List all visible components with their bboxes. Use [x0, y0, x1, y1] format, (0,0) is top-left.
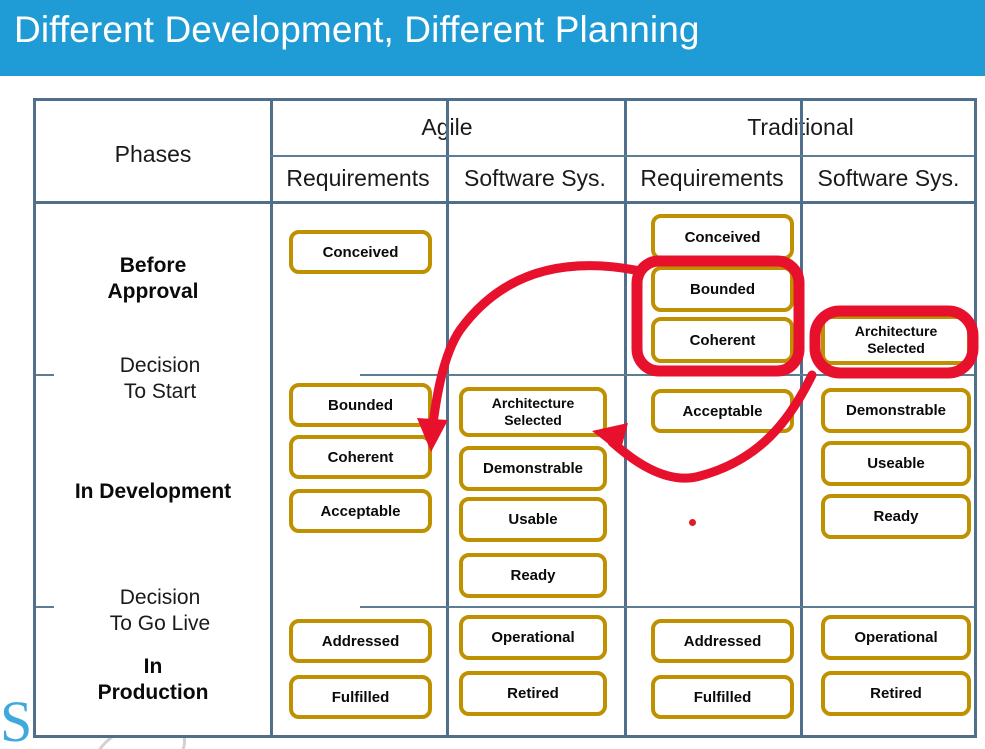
page-title: Different Development, Different Plannin…	[14, 3, 700, 57]
grid-vline-trad-req	[800, 101, 803, 735]
state-box[interactable]: Coherent	[289, 435, 432, 479]
row-label-in-production-line1: In	[36, 654, 270, 680]
state-box[interactable]: Usable	[459, 497, 607, 542]
state-box[interactable]: Demonstrable	[821, 388, 971, 433]
state-box[interactable]: Demonstrable	[459, 446, 607, 491]
row-label-in-development-line1: In Development	[36, 479, 270, 505]
state-box[interactable]: Conceived	[289, 230, 432, 274]
grid-vline-agile-req	[446, 101, 449, 735]
annotation-dot	[689, 519, 696, 526]
state-box[interactable]: Retired	[821, 671, 971, 716]
state-box[interactable]: Retired	[459, 671, 607, 716]
grid-hline-row1-right	[360, 374, 974, 376]
decision-gate-to-go-live: Decision To Go Live	[54, 585, 266, 637]
header-col-agile-software: Software Sys.	[446, 165, 624, 192]
header-col-traditional-requirements: Requirements	[624, 165, 800, 192]
row-label-before-approval-line1: Before	[36, 253, 270, 279]
grid-hline-row2-right	[360, 606, 974, 608]
state-box[interactable]: Bounded	[651, 266, 794, 312]
state-box[interactable]: Addressed	[651, 619, 794, 663]
row-label-before-approval: Before Approval	[36, 253, 270, 305]
header-col-traditional-software: Software Sys.	[800, 165, 977, 192]
state-box[interactable]: Fulfilled	[289, 675, 432, 719]
state-box[interactable]: Architecture Selected	[821, 315, 971, 365]
state-box[interactable]: Addressed	[289, 619, 432, 663]
grid-hline-header-body	[36, 201, 974, 204]
grid-vline-agile-traditional	[624, 155, 627, 735]
header-col-agile-requirements: Requirements	[270, 165, 446, 192]
grid-vline-group-split	[624, 101, 627, 155]
decision-gate-to-go-live-line2: To Go Live	[60, 611, 260, 637]
header-phases: Phases	[36, 141, 270, 168]
grid-hline-group-sub	[270, 155, 974, 157]
decision-gate-to-start: Decision To Start	[54, 353, 266, 405]
state-box[interactable]: Operational	[459, 615, 607, 660]
state-box[interactable]: Ready	[459, 553, 607, 598]
planning-matrix-table: Phases Agile Traditional Requirements So…	[33, 98, 977, 738]
logo-letter: S	[0, 694, 32, 749]
state-box[interactable]: Coherent	[651, 317, 794, 363]
decision-gate-to-start-line2: To Start	[60, 379, 260, 405]
state-box[interactable]: Bounded	[289, 383, 432, 427]
state-box[interactable]: Operational	[821, 615, 971, 660]
row-label-in-production-line2: Production	[36, 680, 270, 706]
grid-vline-phases	[270, 101, 273, 735]
state-box[interactable]: Ready	[821, 494, 971, 539]
state-box[interactable]: Conceived	[651, 214, 794, 260]
slide-header-band: Different Development, Different Plannin…	[0, 0, 985, 76]
row-label-before-approval-line2: Approval	[36, 279, 270, 305]
state-box[interactable]: Useable	[821, 441, 971, 486]
state-box[interactable]: Acceptable	[289, 489, 432, 533]
state-box[interactable]: Architecture Selected	[459, 387, 607, 437]
state-box[interactable]: Acceptable	[651, 389, 794, 433]
decision-gate-to-start-line1: Decision	[60, 353, 260, 379]
decision-gate-to-go-live-line1: Decision	[60, 585, 260, 611]
row-label-in-production: In Production	[36, 654, 270, 706]
row-label-in-development: In Development	[36, 479, 270, 505]
state-box[interactable]: Fulfilled	[651, 675, 794, 719]
